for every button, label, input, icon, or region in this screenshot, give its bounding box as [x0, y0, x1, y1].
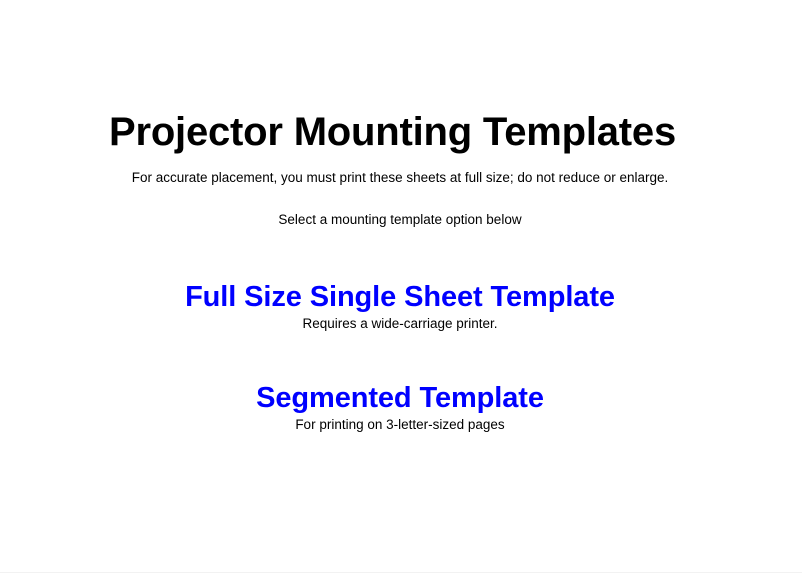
segmented-template-link[interactable]: Segmented Template	[256, 382, 544, 415]
segmented-template-caption: For printing on 3-letter-sized pages	[0, 416, 800, 433]
template-option-segmented: Segmented Template For printing on 3-let…	[0, 382, 800, 433]
full-size-single-sheet-template-caption: Requires a wide-carriage printer.	[0, 315, 800, 332]
document-page: Projector Mounting Templates For accurat…	[0, 0, 802, 573]
page-title: Projector Mounting Templates	[0, 110, 785, 154]
selection-instruction: Select a mounting template option below	[0, 211, 800, 228]
template-option-full-size: Full Size Single Sheet Template Requires…	[0, 281, 800, 332]
full-size-single-sheet-template-link[interactable]: Full Size Single Sheet Template	[185, 281, 615, 314]
print-size-warning: For accurate placement, you must print t…	[0, 169, 800, 186]
